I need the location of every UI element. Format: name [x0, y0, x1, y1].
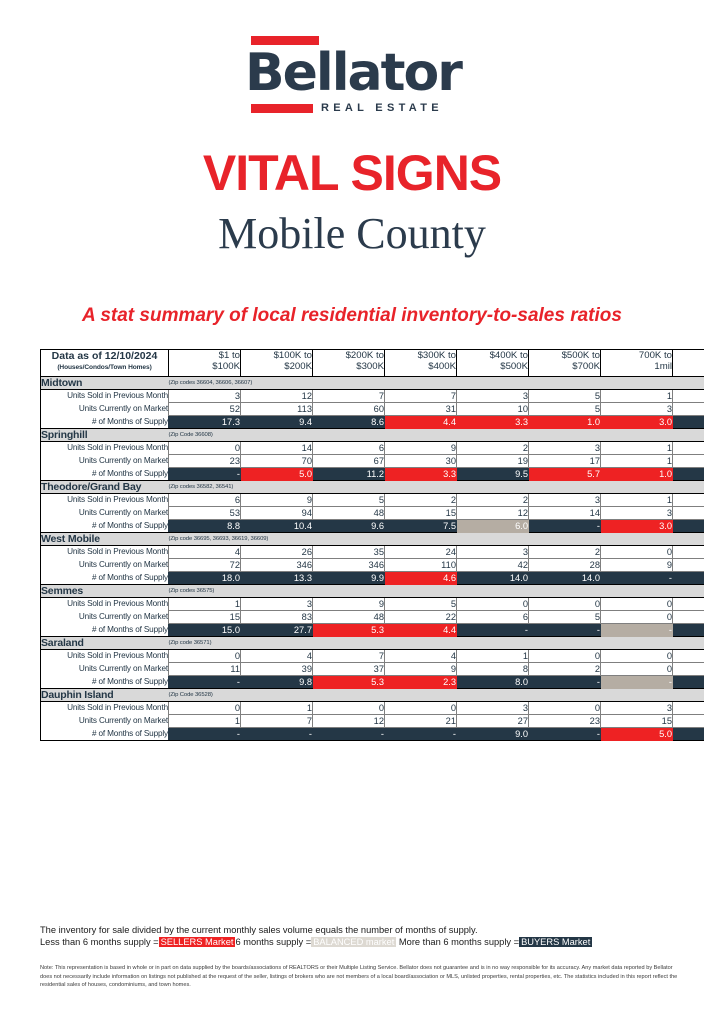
section-header-row: Springhill(Zip Code 36608): [41, 429, 704, 442]
legend-badge-sellers: SELLERS Market: [159, 937, 236, 947]
section-zipcodes: (Zip codes 36575): [169, 585, 704, 598]
table-cell: 1: [601, 442, 673, 455]
section-header-row: Midtown(Zip codes 36604, 36606, 36607): [41, 377, 704, 390]
table-cell: 4.6: [385, 572, 457, 585]
table-cell: 1: [169, 715, 241, 728]
table-cell: 72: [169, 559, 241, 572]
table-cell: 26: [241, 546, 313, 559]
table-cell: 3: [529, 442, 601, 455]
table-cell: 9.0: [457, 728, 529, 741]
table-header-row: Data as of 12/10/2024 (Houses/Condos/Tow…: [41, 350, 704, 377]
table-cell: 13.3: [241, 572, 313, 585]
table-row: Units Sold in Previous Month014692311: [41, 442, 704, 455]
table-cell: 22: [385, 611, 457, 624]
table-cell: 31: [673, 455, 704, 468]
table-cell: 14: [529, 507, 601, 520]
table-row: Units Currently on Market158348226501: [41, 611, 704, 624]
table-cell: 1.0: [601, 468, 673, 481]
column-header-5: $400K to $500K: [457, 350, 529, 377]
legend-label-buyers: More than 6 months supply =: [399, 937, 519, 947]
table-row: # of Months of Supply-9.85.32.38.0---: [41, 676, 704, 689]
table-cell: 6: [673, 715, 704, 728]
table-cell: 37: [313, 663, 385, 676]
table-cell: 60: [313, 403, 385, 416]
legend-badge-buyers: BUYERS Market: [519, 937, 592, 947]
table-cell: -: [601, 572, 673, 585]
table-row: # of Months of Supply-5.011.23.39.55.71.…: [41, 468, 704, 481]
table-row: Units Currently on Market723463461104228…: [41, 559, 704, 572]
header-date: Data as of 12/10/2024: [52, 350, 158, 362]
table-cell: 5.3: [313, 624, 385, 637]
row-label: Units Currently on Market: [41, 559, 169, 572]
table-cell: 1: [241, 702, 313, 715]
table-cell: 3.0: [601, 520, 673, 533]
table-cell: 70: [241, 455, 313, 468]
row-label: Units Sold in Previous Month: [41, 702, 169, 715]
table-row: Units Currently on Market52113603110535: [41, 403, 704, 416]
logo-bottom-row: REAL ESTATE: [251, 102, 461, 114]
table-cell: 27.7: [241, 624, 313, 637]
table-cell: -: [169, 728, 241, 741]
table-cell: 9: [385, 442, 457, 455]
col-3-top: $200K to: [313, 350, 384, 361]
table-cell: 4.4: [385, 416, 457, 429]
table-cell: 10: [457, 403, 529, 416]
table-cell: 4: [169, 546, 241, 559]
bellator-logo: Bellator REAL ESTATE: [243, 0, 461, 114]
header-title-cell: Data as of 12/10/2024 (Houses/Condos/Tow…: [41, 350, 169, 377]
table-row: # of Months of Supply8.810.49.67.56.0-3.…: [41, 520, 704, 533]
disclaimer-text: Note: This representation is based in wh…: [40, 964, 680, 990]
column-header-7: 700K to 1mil: [601, 350, 673, 377]
table-cell: 17.3: [169, 416, 241, 429]
table-cell: 0: [601, 650, 673, 663]
table-cell: 8.8: [169, 520, 241, 533]
section-name: West Mobile: [41, 533, 169, 546]
header-property-types: (Houses/Condos/Town Homes): [41, 362, 168, 376]
table-cell: 12: [457, 507, 529, 520]
table-cell: 0: [169, 702, 241, 715]
table-header: Data as of 12/10/2024 (Houses/Condos/Tow…: [41, 350, 704, 377]
table-cell: 11.2: [313, 468, 385, 481]
table-cell: 7: [313, 650, 385, 663]
page-title: VITAL SIGNS: [0, 144, 704, 202]
table-cell: 3.3: [385, 468, 457, 481]
section-zipcodes: (Zip codes 36604, 36606, 36607): [169, 377, 704, 390]
table-cell: 4: [241, 650, 313, 663]
table-cell: 14.0: [529, 572, 601, 585]
table-cell: 7.5: [385, 520, 457, 533]
section-zipcodes: (Zip Code 36608): [169, 429, 704, 442]
table-cell: -: [601, 676, 673, 689]
col-6-top: $500K to: [529, 350, 600, 361]
col-1-bottom: $100K: [169, 361, 240, 372]
table-cell: -: [673, 624, 704, 637]
table-cell: -: [169, 468, 241, 481]
table-cell: 0: [529, 702, 601, 715]
row-label: # of Months of Supply: [41, 468, 169, 481]
table-cell: 14: [241, 442, 313, 455]
table-cell: -: [601, 624, 673, 637]
footer-explanation: The inventory for sale divided by the cu…: [40, 925, 680, 935]
table-cell: 39: [241, 663, 313, 676]
table-cell: 9.4: [241, 416, 313, 429]
table-cell: 3: [457, 546, 529, 559]
row-label: # of Months of Supply: [41, 728, 169, 741]
section-header-row: West Mobile(Zip code 36695, 36693, 36619…: [41, 533, 704, 546]
col-4-top: $300K to: [385, 350, 456, 361]
table-cell: 31.0: [673, 468, 704, 481]
row-label: # of Months of Supply: [41, 676, 169, 689]
table-cell: 5: [313, 494, 385, 507]
table-row: Units Currently on Market237067301917131: [41, 455, 704, 468]
inventory-table-wrap: Data as of 12/10/2024 (Houses/Condos/Tow…: [40, 349, 672, 741]
table-cell: 31: [385, 403, 457, 416]
column-header-1: $1 to $100K: [169, 350, 241, 377]
table-cell: -: [529, 676, 601, 689]
table-row: Units Sold in Previous Month04741000: [41, 650, 704, 663]
table-cell: -: [673, 676, 704, 689]
table-cell: 6: [673, 507, 704, 520]
row-label: Units Currently on Market: [41, 663, 169, 676]
table-row: Units Currently on Market11393798203: [41, 663, 704, 676]
col-3-bottom: $300K: [313, 361, 384, 372]
table-cell: 0: [601, 598, 673, 611]
table-cell: 0: [673, 598, 704, 611]
table-cell: 42: [457, 559, 529, 572]
table-cell: 8: [457, 663, 529, 676]
table-cell: 3: [457, 390, 529, 403]
column-header-8: $1mil +: [673, 350, 704, 377]
table-cell: 27: [457, 715, 529, 728]
row-label: Units Sold in Previous Month: [41, 598, 169, 611]
col-2-top: $100K to: [241, 350, 312, 361]
table-cell: 0: [529, 650, 601, 663]
table-cell: 48: [313, 611, 385, 624]
table-cell: 1: [601, 390, 673, 403]
table-cell: 5.0: [601, 728, 673, 741]
table-cell: 9.9: [313, 572, 385, 585]
row-label: Units Sold in Previous Month: [41, 442, 169, 455]
col-5-top: $400K to: [457, 350, 528, 361]
table-cell: -: [673, 520, 704, 533]
section-name: Springhill: [41, 429, 169, 442]
page-subtitle: Mobile County: [0, 208, 704, 259]
section-zipcodes: (Zip code 36571): [169, 637, 704, 650]
table-cell: -: [673, 572, 704, 585]
table-cell: 3: [241, 598, 313, 611]
section-name: Theodore/Grand Bay: [41, 481, 169, 494]
table-cell: -: [457, 624, 529, 637]
table-cell: 0: [169, 442, 241, 455]
table-cell: 5: [673, 403, 704, 416]
row-label: # of Months of Supply: [41, 572, 169, 585]
table-cell: 5.0: [241, 468, 313, 481]
table-cell: -: [673, 416, 704, 429]
table-cell: 6: [457, 611, 529, 624]
table-cell: 9: [313, 598, 385, 611]
row-label: Units Currently on Market: [41, 715, 169, 728]
table-cell: 1: [673, 611, 704, 624]
table-cell: 0: [529, 598, 601, 611]
column-header-4: $300K to $400K: [385, 350, 457, 377]
row-label: # of Months of Supply: [41, 416, 169, 429]
section-name: Saraland: [41, 637, 169, 650]
table-cell: 9.6: [313, 520, 385, 533]
table-body: Midtown(Zip codes 36604, 36606, 36607)Un…: [41, 377, 704, 741]
table-cell: 9: [601, 559, 673, 572]
section-header-row: Theodore/Grand Bay(Zip codes 36582, 3654…: [41, 481, 704, 494]
table-cell: -: [385, 728, 457, 741]
table-cell: 2: [529, 663, 601, 676]
table-cell: 1: [601, 494, 673, 507]
table-cell: 0: [673, 650, 704, 663]
table-cell: 18.0: [169, 572, 241, 585]
table-cell: 110: [385, 559, 457, 572]
col-2-bottom: $200K: [241, 361, 312, 372]
table-cell: 113: [241, 403, 313, 416]
col-7-top: 700K to: [601, 350, 672, 361]
row-label: Units Sold in Previous Month: [41, 494, 169, 507]
table-cell: 2: [457, 442, 529, 455]
table-cell: 28: [529, 559, 601, 572]
table-cell: 1: [457, 650, 529, 663]
col-5-bottom: $500K: [457, 361, 528, 372]
table-cell: 6: [313, 442, 385, 455]
table-cell: 4.4: [385, 624, 457, 637]
table-cell: 15.0: [169, 624, 241, 637]
col-4-bottom: $400K: [385, 361, 456, 372]
table-cell: 11: [169, 663, 241, 676]
section-header-row: Saraland(Zip code 36571): [41, 637, 704, 650]
table-cell: 14.0: [457, 572, 529, 585]
table-cell: -: [673, 728, 704, 741]
table-cell: 3: [529, 494, 601, 507]
table-row: Units Sold in Previous Month42635243200: [41, 546, 704, 559]
table-cell: 2: [673, 494, 704, 507]
legend-label-sellers: Less than 6 months supply =: [40, 937, 159, 947]
table-cell: 5.7: [529, 468, 601, 481]
table-row: Units Currently on Market53944815121436: [41, 507, 704, 520]
table-row: # of Months of Supply18.013.39.94.614.01…: [41, 572, 704, 585]
table-cell: -: [529, 520, 601, 533]
table-cell: -: [241, 728, 313, 741]
table-cell: 2.3: [385, 676, 457, 689]
table-cell: 8.6: [313, 416, 385, 429]
table-cell: 4: [673, 559, 704, 572]
row-label: Units Sold in Previous Month: [41, 650, 169, 663]
section-header-row: Semmes(Zip codes 36575): [41, 585, 704, 598]
vital-signs-report: Bellator REAL ESTATE VITAL SIGNS Mobile …: [0, 0, 704, 1024]
legend-badge-balanced: BALANCED market: [311, 937, 396, 947]
page-tagline: A stat summary of local residential inve…: [0, 305, 704, 327]
table-cell: 5: [529, 403, 601, 416]
table-cell: 0: [601, 546, 673, 559]
table-cell: 9: [385, 663, 457, 676]
table-cell: 346: [313, 559, 385, 572]
section-zipcodes: (Zip codes 36582, 36541): [169, 481, 704, 494]
table-cell: 3: [601, 702, 673, 715]
logo-tagline: REAL ESTATE: [321, 102, 443, 114]
table-cell: 94: [241, 507, 313, 520]
row-label: Units Currently on Market: [41, 507, 169, 520]
table-cell: 9.5: [457, 468, 529, 481]
column-header-2: $100K to $200K: [241, 350, 313, 377]
table-cell: 0: [601, 663, 673, 676]
table-cell: 5: [529, 611, 601, 624]
logo-accent-bar-bottom: [251, 104, 313, 113]
table-cell: 1: [601, 455, 673, 468]
table-cell: 0: [601, 611, 673, 624]
section-name: Midtown: [41, 377, 169, 390]
table-cell: 0: [673, 546, 704, 559]
table-cell: 19: [457, 455, 529, 468]
table-cell: 2: [385, 494, 457, 507]
table-cell: 0: [673, 702, 704, 715]
col-1-top: $1 to: [169, 350, 240, 361]
table-cell: -: [169, 676, 241, 689]
col-6-bottom: $700K: [529, 361, 600, 372]
row-label: Units Sold in Previous Month: [41, 390, 169, 403]
row-label: Units Currently on Market: [41, 611, 169, 624]
table-cell: 3.0: [601, 416, 673, 429]
row-label: Units Currently on Market: [41, 403, 169, 416]
table-cell: 12: [241, 390, 313, 403]
footer-legend: The inventory for sale divided by the cu…: [40, 925, 680, 947]
table-row: Units Sold in Previous Month312773510: [41, 390, 704, 403]
table-cell: 23: [529, 715, 601, 728]
row-label: # of Months of Supply: [41, 520, 169, 533]
table-cell: 0: [673, 390, 704, 403]
table-cell: 3: [169, 390, 241, 403]
table-cell: 53: [169, 507, 241, 520]
table-cell: 1.0: [529, 416, 601, 429]
table-cell: 2: [457, 494, 529, 507]
table-cell: 83: [241, 611, 313, 624]
table-cell: -: [529, 624, 601, 637]
table-cell: 346: [241, 559, 313, 572]
table-cell: 12: [313, 715, 385, 728]
table-cell: 9: [241, 494, 313, 507]
column-header-6: $500K to $700K: [529, 350, 601, 377]
table-cell: 24: [385, 546, 457, 559]
table-cell: -: [313, 728, 385, 741]
table-cell: 7: [313, 390, 385, 403]
table-row: Units Sold in Previous Month69522312: [41, 494, 704, 507]
table-cell: 23: [169, 455, 241, 468]
table-row: Units Currently on Market1712212723156: [41, 715, 704, 728]
table-cell: 52: [169, 403, 241, 416]
table-cell: 30: [385, 455, 457, 468]
table-row: # of Months of Supply----9.0-5.0-: [41, 728, 704, 741]
table-cell: 3.3: [457, 416, 529, 429]
section-name: Dauphin Island: [41, 689, 169, 702]
table-cell: 0: [385, 702, 457, 715]
inventory-table: Data as of 12/10/2024 (Houses/Condos/Tow…: [40, 349, 704, 741]
table-cell: 5.3: [313, 676, 385, 689]
table-cell: 35: [313, 546, 385, 559]
col-8-top: $1mil +: [673, 350, 704, 361]
legend-label-balanced: 6 months supply =: [235, 937, 311, 947]
column-header-3: $200K to $300K: [313, 350, 385, 377]
col-7-bottom: 1mil: [601, 361, 672, 372]
table-cell: 15: [385, 507, 457, 520]
row-label: Units Sold in Previous Month: [41, 546, 169, 559]
table-cell: 48: [313, 507, 385, 520]
footer-legend-row: Less than 6 months supply = SELLERS Mark…: [40, 937, 680, 947]
table-cell: 0: [313, 702, 385, 715]
row-label: Units Currently on Market: [41, 455, 169, 468]
table-cell: 1: [169, 598, 241, 611]
table-cell: 21: [385, 715, 457, 728]
table-cell: 3: [601, 403, 673, 416]
row-label: # of Months of Supply: [41, 624, 169, 637]
table-row: Units Sold in Previous Month13950000: [41, 598, 704, 611]
table-row: Units Sold in Previous Month01003030: [41, 702, 704, 715]
table-cell: 7: [385, 390, 457, 403]
table-cell: 8.0: [457, 676, 529, 689]
table-cell: 0: [457, 598, 529, 611]
table-cell: 10.4: [241, 520, 313, 533]
table-cell: 5: [385, 598, 457, 611]
section-header-row: Dauphin Island(Zip Code 36528): [41, 689, 704, 702]
table-cell: 9.8: [241, 676, 313, 689]
table-cell: 5: [529, 390, 601, 403]
table-cell: 67: [313, 455, 385, 468]
section-name: Semmes: [41, 585, 169, 598]
table-row: # of Months of Supply15.027.75.34.4----: [41, 624, 704, 637]
table-cell: 2: [529, 546, 601, 559]
table-cell: 1: [673, 442, 704, 455]
table-cell: 7: [241, 715, 313, 728]
table-cell: -: [529, 728, 601, 741]
table-cell: 3: [457, 702, 529, 715]
section-zipcodes: (Zip code 36695, 36693, 36619, 36609): [169, 533, 704, 546]
logo-wordmark: Bellator: [245, 47, 461, 99]
table-cell: 4: [385, 650, 457, 663]
section-zipcodes: (Zip Code 36528): [169, 689, 704, 702]
table-cell: 6.0: [457, 520, 529, 533]
table-cell: 17: [529, 455, 601, 468]
table-cell: 15: [169, 611, 241, 624]
table-cell: 6: [169, 494, 241, 507]
table-cell: 3: [601, 507, 673, 520]
table-cell: 0: [169, 650, 241, 663]
table-row: # of Months of Supply17.39.48.64.43.31.0…: [41, 416, 704, 429]
table-cell: 15: [601, 715, 673, 728]
table-cell: 3: [673, 663, 704, 676]
